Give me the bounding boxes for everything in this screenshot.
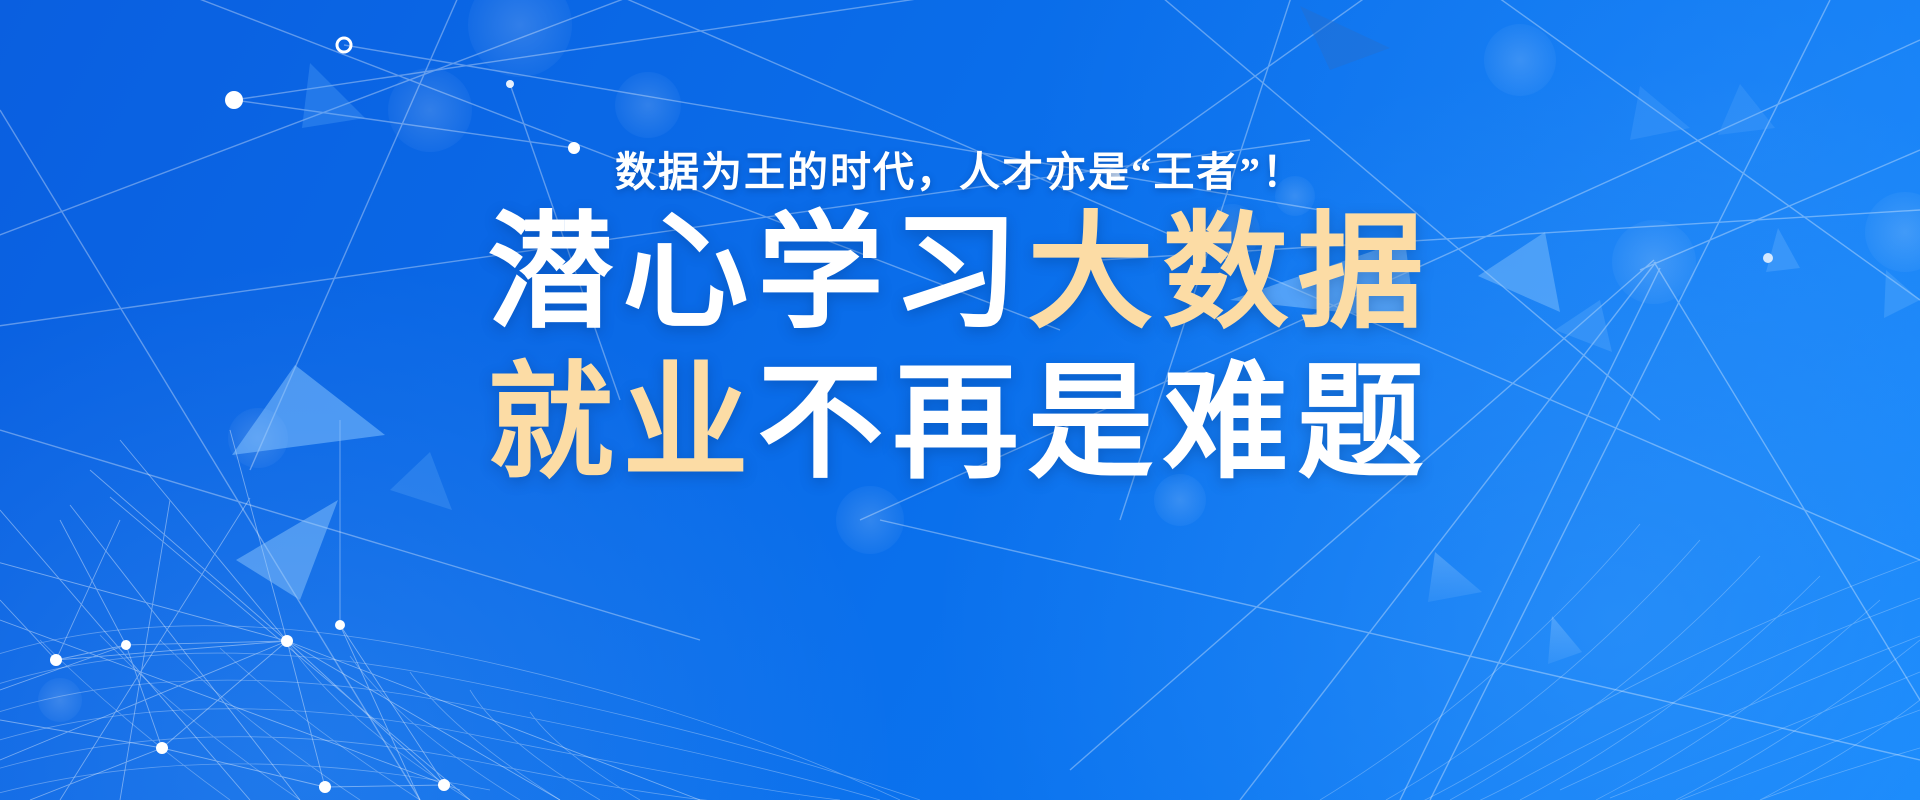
headline-line-2: 就业不再是难题 — [0, 360, 1920, 486]
banner-subtitle: 数据为王的时代，人才亦是“王者”！ — [0, 152, 1920, 193]
headline-line-2-white: 不再是难题 — [758, 349, 1433, 496]
banner-root: 数据为王的时代，人才亦是“王者”！ 潜心学习大数据 就业不再是难题 — [0, 0, 1920, 800]
headline-line-1-accent: 大数据 — [1028, 199, 1433, 346]
headline-line-1-white: 潜心学习 — [488, 199, 1028, 346]
headline-line-1: 潜心学习大数据 — [0, 210, 1920, 336]
banner-content: 数据为王的时代，人才亦是“王者”！ 潜心学习大数据 就业不再是难题 — [0, 0, 1920, 800]
headline-line-2-accent: 就业 — [488, 349, 758, 496]
